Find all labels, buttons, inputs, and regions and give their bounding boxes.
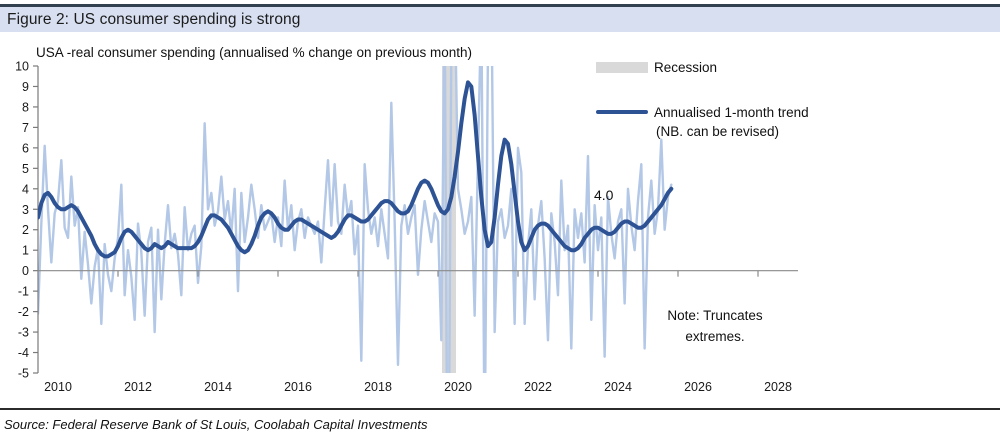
y-tick-label: 8 — [22, 100, 29, 114]
legend-item-trend-sublabel: (NB. can be revised) — [654, 122, 809, 141]
x-tick-label: 2020 — [444, 380, 472, 394]
y-tick-label: 7 — [22, 121, 29, 135]
x-tick-label: 2014 — [204, 380, 232, 394]
y-tick-label: 10 — [15, 60, 29, 74]
x-tick-label: 2018 — [364, 380, 392, 394]
last-value-label: 4.0 — [594, 187, 613, 203]
y-tick-label: 3 — [22, 203, 29, 217]
source-divider — [0, 408, 1000, 410]
x-tick-label: 2012 — [124, 380, 152, 394]
y-tick-label: 2 — [22, 223, 29, 237]
legend-item-trend-label-group: Annualised 1-month trend (NB. can be rev… — [654, 103, 809, 141]
y-tick-label: 4 — [22, 182, 29, 196]
y-tick-label: 1 — [22, 244, 29, 258]
y-tick-label: 6 — [22, 141, 29, 155]
chart-note: Note: Truncates extremes. — [640, 305, 790, 347]
legend-item-trend: Annualised 1-month trend (NB. can be rev… — [596, 103, 926, 141]
y-tick-label: -1 — [18, 285, 29, 299]
x-tick-label: 2028 — [764, 380, 792, 394]
y-axis-tick-labels: 109876543210-1-2-3-4-5 — [15, 60, 29, 381]
x-axis-tick-labels: 2010201220142016201820202022202420262028 — [44, 380, 792, 394]
trend-line-swatch-icon — [596, 110, 648, 114]
y-tick-label: -3 — [18, 326, 29, 340]
chart-note-line2: extremes. — [685, 329, 744, 344]
recession-swatch-icon — [596, 62, 648, 73]
legend-item-recession-label: Recession — [654, 58, 717, 77]
x-tick-label: 2026 — [684, 380, 712, 394]
y-tick-label: -5 — [18, 367, 29, 381]
source-caption: Source: Federal Reserve Bank of St Louis… — [4, 417, 427, 432]
legend-item-trend-label: Annualised 1-month trend — [654, 105, 809, 120]
x-tick-label: 2010 — [44, 380, 72, 394]
x-tick-label: 2022 — [524, 380, 552, 394]
series-monthly — [38, 0, 671, 443]
legend-item-recession: Recession — [596, 58, 926, 77]
x-tick-label: 2016 — [284, 380, 312, 394]
y-tick-label: 9 — [22, 80, 29, 94]
chart-legend: Recession Annualised 1-month trend (NB. … — [596, 58, 926, 167]
chart-note-line1: Note: Truncates — [667, 308, 762, 323]
y-tick-label: -4 — [18, 346, 29, 360]
y-tick-label: -2 — [18, 305, 29, 319]
x-tick-label: 2024 — [604, 380, 632, 394]
y-tick-label: 0 — [22, 264, 29, 278]
y-tick-label: 5 — [22, 162, 29, 176]
